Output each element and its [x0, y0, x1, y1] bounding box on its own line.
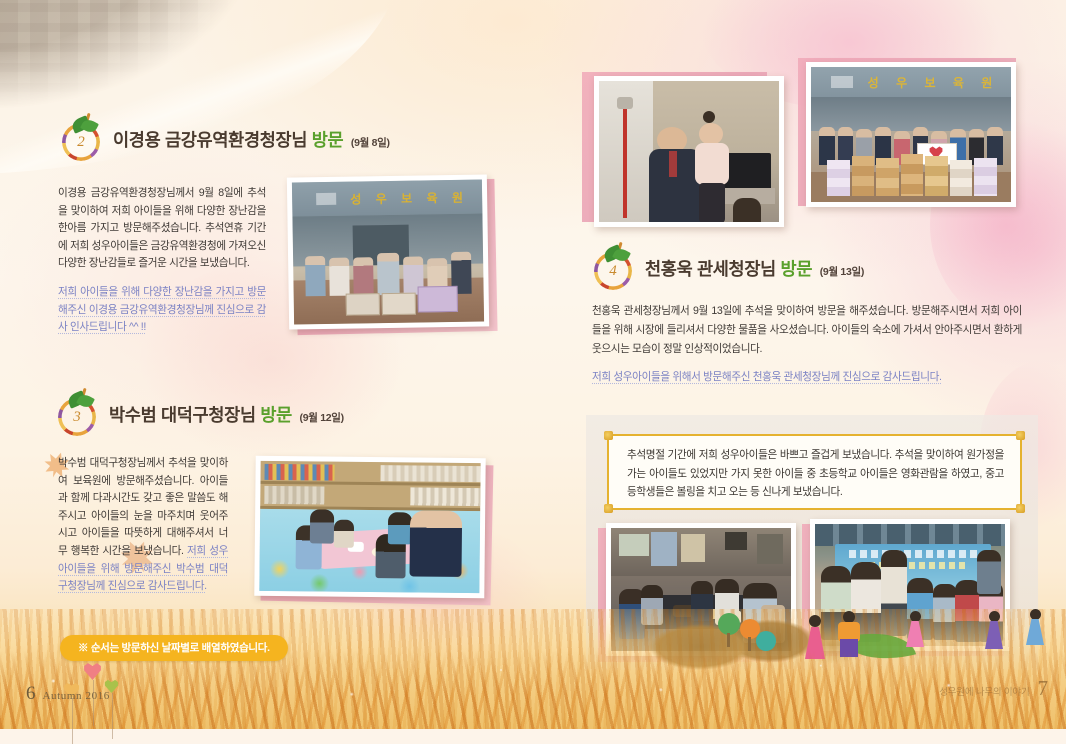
- order-note-badge: ※ 순서는 방문하신 날짜별로 배열하였습니다.: [60, 635, 288, 661]
- thanks-paragraph-4: 저희 성우아이들을 위해서 방문해주신 천홍욱 관세청장님께 진심으로 감사드립…: [592, 368, 1022, 387]
- highlight-note-box: 추석명절 기간에 저희 성우아이들은 바쁘고 즐겁게 보냈습니다. 추석을 맞이…: [607, 434, 1022, 510]
- note-corner-decor: [604, 504, 613, 513]
- section-header-4: 4 천홍욱 관세청장님 방문 (9월 13일): [592, 246, 864, 290]
- section-title-main-3: 박수범 대덕구청장님: [109, 405, 256, 425]
- section-body-2: 이경용 금강유역환경청장님께서 9월 8일에 추석을 맞이하여 저희 아이들을 …: [58, 185, 266, 337]
- section-badge-icon-3: 3: [56, 392, 100, 436]
- section-title-4: 천홍욱 관세청장님 방문 (9월 13일): [645, 256, 864, 281]
- section-title-main-2: 이경용 금강유역환경청장님: [113, 130, 307, 150]
- section-title-highlight-3: 방문: [260, 405, 292, 425]
- section-badge-icon-2: 2: [60, 117, 104, 161]
- section-badge-icon-4: 4: [592, 246, 636, 290]
- photo-image: 성 우 보 육 원: [811, 67, 1011, 202]
- section-header-3: 3 박수범 대덕구청장님 방문 (9월 12일): [56, 392, 344, 436]
- photo-image: [599, 81, 779, 222]
- note-corner-decor: [1016, 504, 1025, 513]
- section-title-highlight-4: 방문: [781, 259, 813, 279]
- page-number-left-value: 6: [26, 683, 36, 705]
- note-box-text: 추석명절 기간에 저희 성우아이들은 바쁘고 즐겁게 보냈습니다. 추석을 맞이…: [627, 446, 1004, 502]
- photo-section-4-left: [594, 76, 784, 227]
- sparkle-decor: [0, 615, 1066, 725]
- section-body-3: 박수범 대덕구청장님께서 추석을 맞이하여 보육원에 방문해주셨습니다. 아이들…: [58, 455, 228, 596]
- section-body-4: 천홍욱 관세청장님께서 9월 13일에 추석을 맞이하여 방문을 해주셨습니다.…: [592, 302, 1022, 387]
- photo-image: 성 우 보 육 원: [292, 180, 484, 325]
- section-title-highlight-2: 방문: [312, 130, 344, 150]
- paragraph: 이경용 금강유역환경청장님께서 9월 8일에 추석을 맞이하여 저희 아이들을 …: [58, 185, 266, 273]
- page-number-right: 성우원에 나무의 이야기 7: [939, 676, 1048, 701]
- section-number-2: 2: [62, 123, 100, 161]
- paragraph-text: 박수범 대덕구청장님께서 추석을 맞이하여 보육원에 방문해주셨습니다. 아이들…: [58, 457, 228, 557]
- page-number-right-label: 성우원에 나무의 이야기: [939, 684, 1029, 698]
- section-date-3: (9월 12일): [300, 412, 344, 424]
- page-number-left-label: Autumn 2016: [43, 690, 110, 702]
- section-number-4: 4: [594, 252, 632, 290]
- paragraph: 천홍욱 관세청장님께서 9월 13일에 추석을 맞이하여 방문을 해주셨습니다.…: [592, 302, 1022, 359]
- magazine-spread: 2 이경용 금강유역환경청장님 방문 (9월 8일) 이경용 금강유역환경청장님…: [0, 0, 1066, 729]
- section-title-3: 박수범 대덕구청장님 방문 (9월 12일): [109, 402, 344, 427]
- page-number-left: 6 Autumn 2016: [26, 683, 110, 705]
- section-number-3: 3: [58, 398, 96, 436]
- page-number-right-value: 7: [1038, 676, 1049, 701]
- photo-section-4-right: 성 우 보 육 원: [806, 62, 1016, 207]
- section-date-2: (9월 8일): [351, 137, 390, 149]
- heart-balloon-decor: [83, 662, 102, 680]
- photo-section-3: [254, 456, 485, 598]
- section-date-4: (9월 13일): [820, 266, 864, 278]
- paragraph: 박수범 대덕구청장님께서 추석을 맞이하여 보육원에 방문해주셨습니다. 아이들…: [58, 455, 228, 596]
- thanks-paragraph-2: 저희 아이들을 위해 다양한 장난감을 가지고 방문해주신 이경용 금강유역환경…: [58, 284, 266, 337]
- photo-section-2: 성 우 보 육 원: [287, 174, 489, 329]
- section-title-main-4: 천홍욱 관세청장님: [645, 259, 776, 279]
- photo-image: [259, 461, 480, 593]
- section-title-2: 이경용 금강유역환경청장님 방문 (9월 8일): [113, 127, 390, 152]
- section-header-2: 2 이경용 금강유역환경청장님 방문 (9월 8일): [60, 117, 390, 161]
